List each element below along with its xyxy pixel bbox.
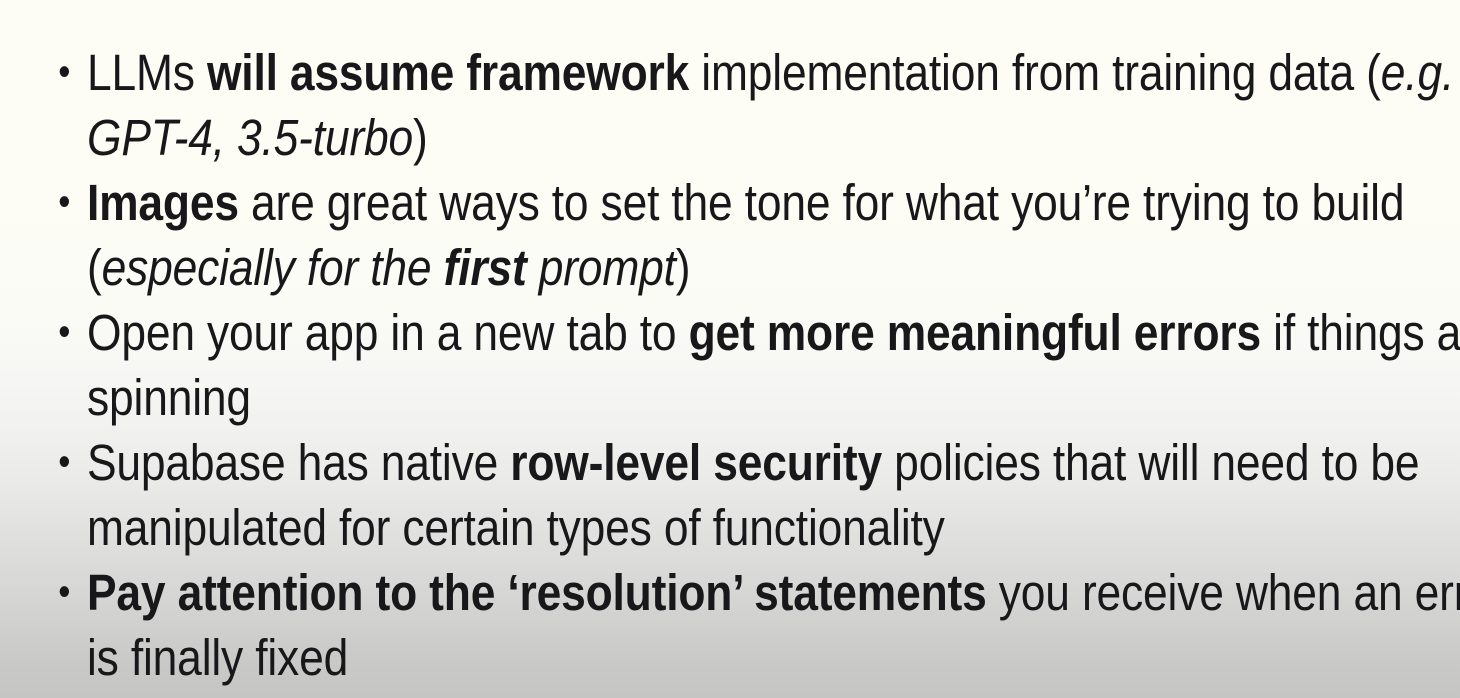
bullet-marker-icon: • — [58, 560, 71, 625]
bullet-marker-icon: • — [58, 40, 71, 105]
bullet-marker-icon: • — [58, 300, 71, 365]
text-run-bold: Pay attention to the ‘resolution’ statem… — [87, 564, 987, 621]
text-run-regular: Supabase has native — [87, 434, 510, 491]
text-run-italic: prompt — [527, 239, 676, 296]
text-run-regular: LLMs — [87, 44, 207, 101]
slide-canvas: •LLMs will assume framework implementati… — [0, 0, 1460, 698]
text-run-regular: implementation from training data ( — [689, 44, 1381, 101]
bullet-text: Pay attention to the ‘resolution’ statem… — [87, 560, 1460, 690]
bullet-item: •Pay attention to the ‘resolution’ state… — [0, 560, 1460, 690]
bullet-text: Open your app in a new tab to get more m… — [87, 300, 1460, 430]
bullet-marker-icon: • — [58, 430, 71, 495]
text-run-bold: row-level security — [510, 434, 882, 491]
bullet-item: •Open your app in a new tab to get more … — [0, 300, 1460, 430]
text-run-regular: Open your app in a new tab to — [87, 304, 689, 361]
text-run-bold: get more meaningful errors — [689, 304, 1261, 361]
bullet-item: •Supabase has native row-level security … — [0, 430, 1460, 560]
bullet-marker-icon: • — [58, 170, 71, 235]
text-run-bold: Images — [87, 174, 239, 231]
bullet-text: LLMs will assume framework implementatio… — [87, 40, 1460, 170]
bullet-text: Supabase has native row-level security p… — [87, 430, 1460, 560]
bullet-item: •LLMs will assume framework implementati… — [0, 40, 1460, 170]
bullet-text: Images are great ways to set the tone fo… — [87, 170, 1460, 300]
text-run-regular: ) — [676, 239, 691, 296]
bullet-list: •LLMs will assume framework implementati… — [0, 0, 1460, 690]
bullet-item: •Images are great ways to set the tone f… — [0, 170, 1460, 300]
text-run-italic: especially for the — [102, 239, 444, 296]
text-run-regular: ) — [413, 109, 428, 166]
text-run-bold-italic: first — [444, 239, 527, 296]
text-run-bold: will assume framework — [207, 44, 689, 101]
